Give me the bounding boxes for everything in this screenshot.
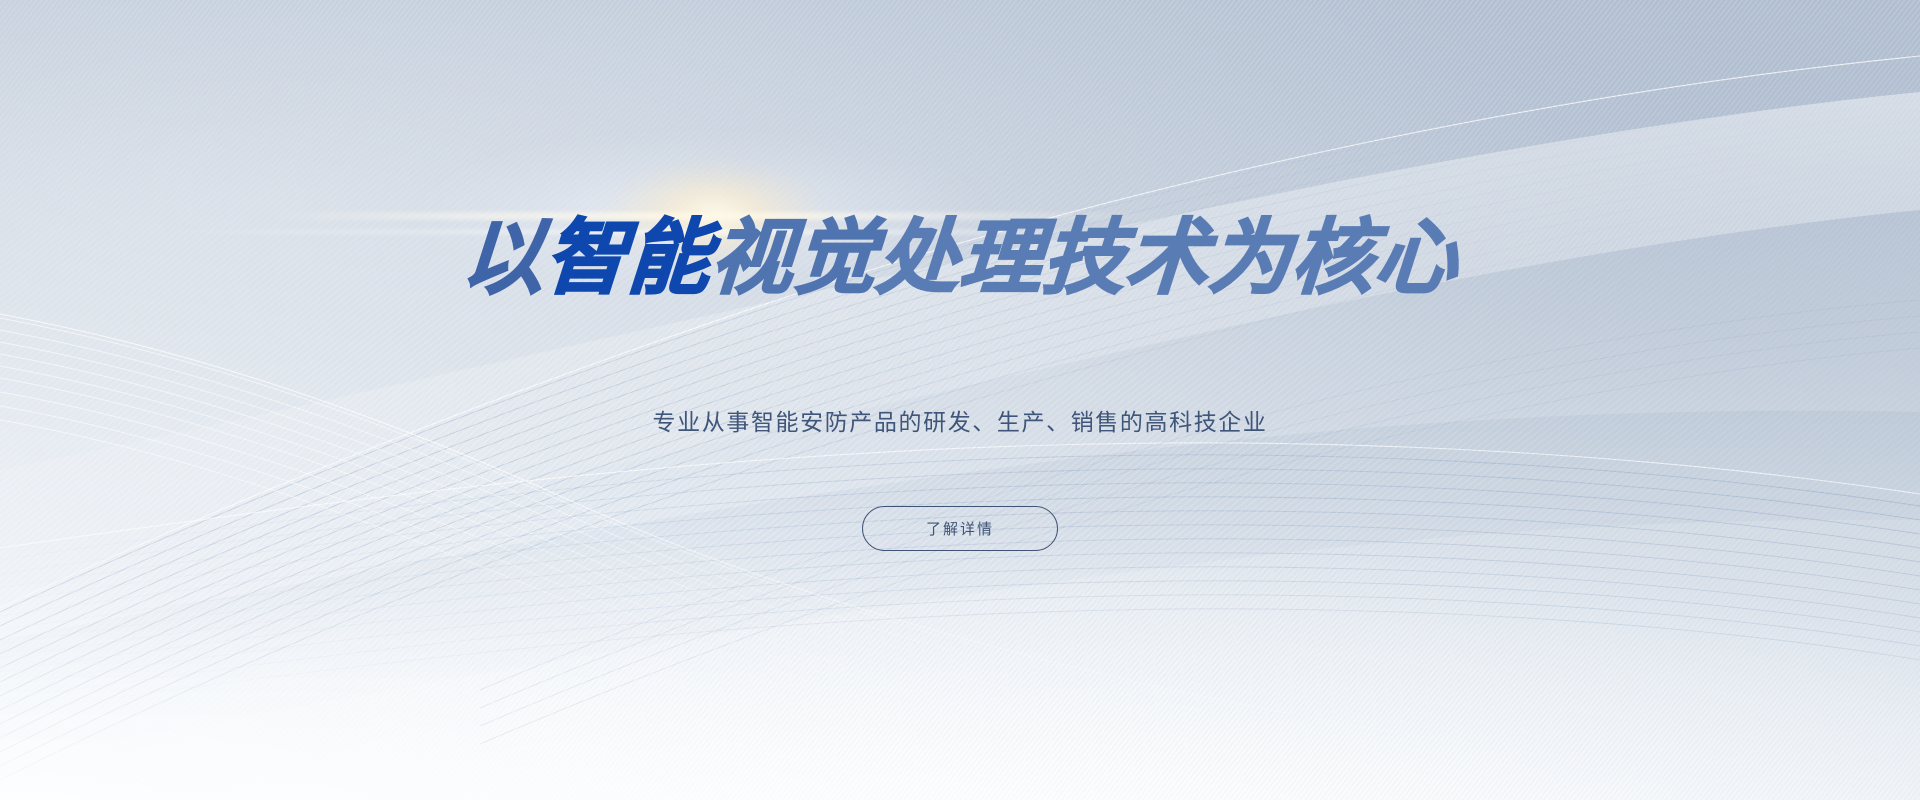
learn-more-button[interactable]: 了解详情 [862, 506, 1058, 551]
headline-segment-3: 视觉 [708, 218, 880, 300]
page-title: 以智能视觉处理技术为核心 [0, 218, 1920, 300]
headline-segment-1: 以 [459, 218, 548, 300]
hero-content: 以智能视觉处理技术为核心 专业从事智能安防产品的研发、生产、销售的高科技企业 了… [0, 0, 1920, 800]
headline-segment-2: 智能 [542, 218, 714, 300]
cta-container: 了解详情 [0, 506, 1920, 551]
page-subtitle: 专业从事智能安防产品的研发、生产、销售的高科技企业 [0, 403, 1920, 437]
hero-banner: 以智能视觉处理技术为核心 专业从事智能安防产品的研发、生产、销售的高科技企业 了… [0, 0, 1920, 800]
headline-segment-4: 处理技术为核心 [874, 218, 1461, 300]
